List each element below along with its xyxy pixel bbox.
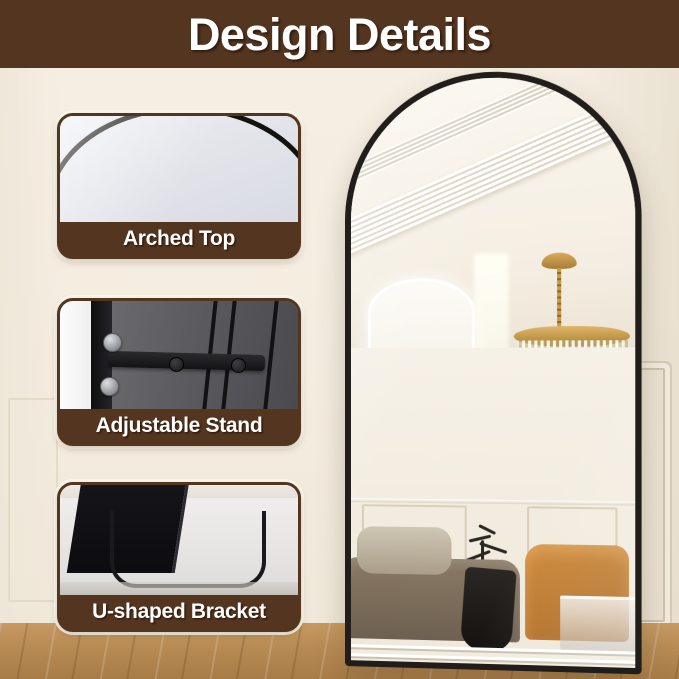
arch-curve-icon — [60, 116, 298, 222]
feature-label-arched-top: Arched Top — [123, 227, 235, 251]
u-shaped-bar — [110, 511, 266, 588]
feature-label-bar-adjustable-stand: Adjustable Stand — [60, 409, 298, 443]
feature-card-adjustable-stand[interactable]: Adjustable Stand — [57, 298, 301, 446]
mirror-frame — [345, 68, 642, 674]
feature-image-u-shaped-bracket — [60, 485, 298, 595]
feature-label-adjustable-stand: Adjustable Stand — [96, 414, 263, 438]
black-throw-blanket — [460, 567, 517, 654]
sofa-pillow — [356, 526, 451, 575]
stand-wall-strip — [60, 301, 91, 409]
feature-card-arched-top[interactable]: Arched Top — [57, 113, 301, 259]
feature-label-u-shaped-bracket: U-shaped Bracket — [92, 600, 266, 624]
feature-label-bar-u-shaped-bracket: U-shaped Bracket — [60, 595, 298, 629]
stand-bracket-icon — [60, 301, 298, 409]
feature-card-u-shaped-bracket[interactable]: U-shaped Bracket — [57, 482, 301, 632]
feature-label-bar-arched-top: Arched Top — [60, 222, 298, 256]
feature-image-adjustable-stand — [60, 301, 298, 409]
infographic-page: Design Details — [0, 0, 679, 679]
arched-floor-mirror — [345, 68, 642, 674]
mirror-reflection — [351, 74, 635, 668]
plant-branch — [478, 524, 496, 535]
chandelier-canopy — [541, 253, 576, 270]
chandelier-chain — [557, 268, 561, 327]
page-title: Design Details — [188, 12, 491, 57]
u-bracket-icon — [60, 485, 298, 595]
feature-image-arched-top — [60, 116, 298, 222]
glass-side-table — [560, 596, 635, 652]
left-wainscot-panel — [8, 398, 58, 602]
header-banner: Design Details — [0, 0, 679, 68]
image-sheen — [60, 116, 298, 222]
reflected-lower-room — [351, 347, 635, 668]
bracket-floor — [60, 582, 298, 595]
stand-screw — [100, 377, 119, 396]
